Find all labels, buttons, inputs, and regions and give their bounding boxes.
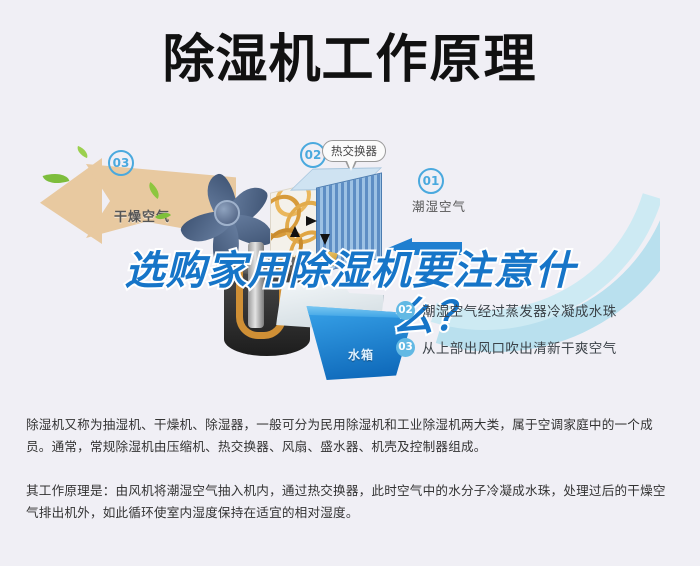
airflow-arrow-down-icon <box>320 234 330 245</box>
leaf-icon <box>75 146 90 158</box>
diagram-badge-01: 01 <box>418 168 444 194</box>
legend-text-03: 从上部出风口吹出清新干爽空气 <box>422 337 617 357</box>
legend-item: 03 从上部出风口吹出清新干爽空气 <box>396 337 696 357</box>
legend-text-02: 潮湿空气经过蒸发器冷凝成水珠 <box>422 300 617 320</box>
airflow-arrow-right-icon <box>306 216 317 226</box>
article-paragraph-2: 其工作原理是：由风机将潮湿空气抽入机内，通过热交换器，此时空气中的水分子冷凝成水… <box>26 480 676 524</box>
humid-air-label: 潮湿空气 <box>412 196 466 215</box>
water-tank-label: 水箱 <box>348 346 374 363</box>
fan-hub <box>214 200 240 226</box>
heat-exchanger-callout: 热交换器 <box>322 140 386 162</box>
page-title-part1: 除湿机 <box>162 30 321 90</box>
legend-badge-03: 03 <box>396 338 415 357</box>
legend-badge-02: 02 <box>396 301 415 320</box>
airflow-arrow-up-icon <box>290 226 300 237</box>
page-title-part2: 工作原理 <box>322 30 538 90</box>
compressor-valve-icon <box>318 250 338 266</box>
compressor-label: 压缩机 <box>258 252 293 268</box>
page-title: 除湿机工作原理 <box>0 28 700 92</box>
compressor-and-tank-assembly: 压缩机 水箱 <box>214 248 414 398</box>
legend-list: 02 潮湿空气经过蒸发器冷凝成水珠 03 从上部出风口吹出清新干爽空气 <box>396 300 696 374</box>
article-body: 除湿机又称为抽湿机、干燥机、除湿器，一般可分为民用除湿机和工业除湿机两大类，属于… <box>26 414 676 534</box>
header-banner: 除湿机工作原理 <box>0 0 700 122</box>
diagram-badge-03: 03 <box>108 150 134 176</box>
legend-item: 02 潮湿空气经过蒸发器冷凝成水珠 <box>396 300 696 320</box>
article-paragraph-1: 除湿机又称为抽湿机、干燥机、除湿器，一般可分为民用除湿机和工业除湿机两大类，属于… <box>26 414 676 458</box>
